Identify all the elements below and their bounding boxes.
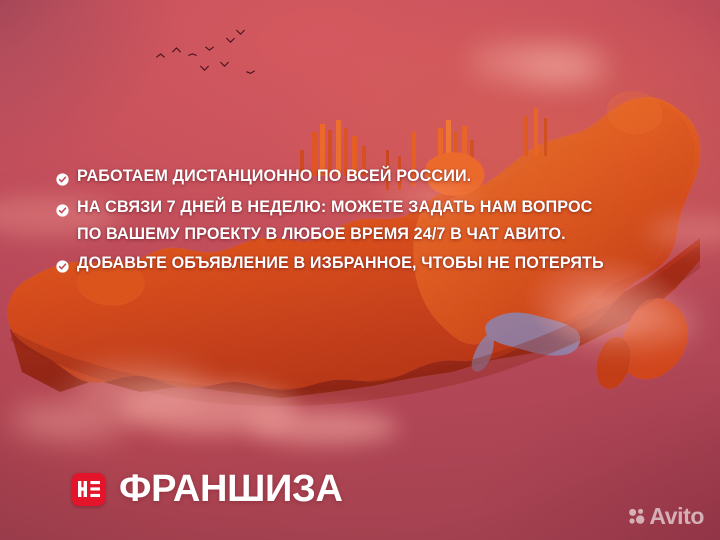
bird-icon <box>188 53 197 58</box>
avito-dots-icon <box>628 508 645 525</box>
bird-icon <box>246 70 255 75</box>
check-circle-icon <box>56 260 69 273</box>
bullet-text-continuation: ПО ВАШЕМУ ПРОЕКТУ В ЛЮБОЕ ВРЕМЯ 24/7 В Ч… <box>77 226 566 243</box>
avito-watermark-text: Avito <box>649 505 704 528</box>
cloud-top-right-2 <box>520 58 610 82</box>
bullet-item-3: ДОБАВЬТЕ ОБЪЯВЛЕНИЕ В ИЗБРАННОЕ, ЧТОБЫ Н… <box>56 255 686 273</box>
bullet-text: НА СВЯЗИ 7 ДНЕЙ В НЕДЕЛЮ: МОЖЕТЕ ЗАДАТЬ … <box>77 199 592 216</box>
bird-icon <box>156 54 165 59</box>
cloud-center-low-2 <box>74 368 204 406</box>
bullet-item-1: РАБОТАЕМ ДИСТАНЦИОННО ПО ВСЕЙ РОССИИ. <box>56 168 686 186</box>
check-circle-icon <box>56 173 69 186</box>
bird-flock <box>150 28 290 88</box>
cloud-bottom-center <box>248 410 398 444</box>
bird-icon <box>236 30 245 35</box>
avito-watermark: Avito <box>628 505 704 528</box>
bird-icon <box>172 48 181 53</box>
bullet-text: ДОБАВЬТЕ ОБЪЯВЛЕНИЕ В ИЗБРАННОЕ, ЧТОБЫ Н… <box>77 255 604 272</box>
cloud-right-low <box>556 300 696 344</box>
bullet-item-2-line-2: ПО ВАШЕМУ ПРОЕКТУ В ЛЮБОЕ ВРЕМЯ 24/7 В Ч… <box>77 226 686 243</box>
bullet-text: РАБОТАЕМ ДИСТАНЦИОННО ПО ВСЕЙ РОССИИ. <box>77 168 471 185</box>
brand-logo: ФРАНШИЗА <box>72 470 343 508</box>
logo-wordmark: ФРАНШИЗА <box>119 470 343 508</box>
promo-banner: РАБОТАЕМ ДИСТАНЦИОННО ПО ВСЕЙ РОССИИ. НА… <box>0 0 720 540</box>
bird-icon <box>226 38 235 43</box>
bird-icon <box>220 62 229 67</box>
bird-icon <box>205 46 214 51</box>
check-circle-icon <box>56 204 69 217</box>
bird-icon <box>200 66 209 71</box>
ne-badge-icon <box>72 473 105 506</box>
bullet-item-2: НА СВЯЗИ 7 ДНЕЙ В НЕДЕЛЮ: МОЖЕТЕ ЗАДАТЬ … <box>56 199 686 217</box>
bullet-list: РАБОТАЕМ ДИСТАНЦИОННО ПО ВСЕЙ РОССИИ. НА… <box>56 168 686 280</box>
cloud-bottom-left <box>10 404 130 438</box>
